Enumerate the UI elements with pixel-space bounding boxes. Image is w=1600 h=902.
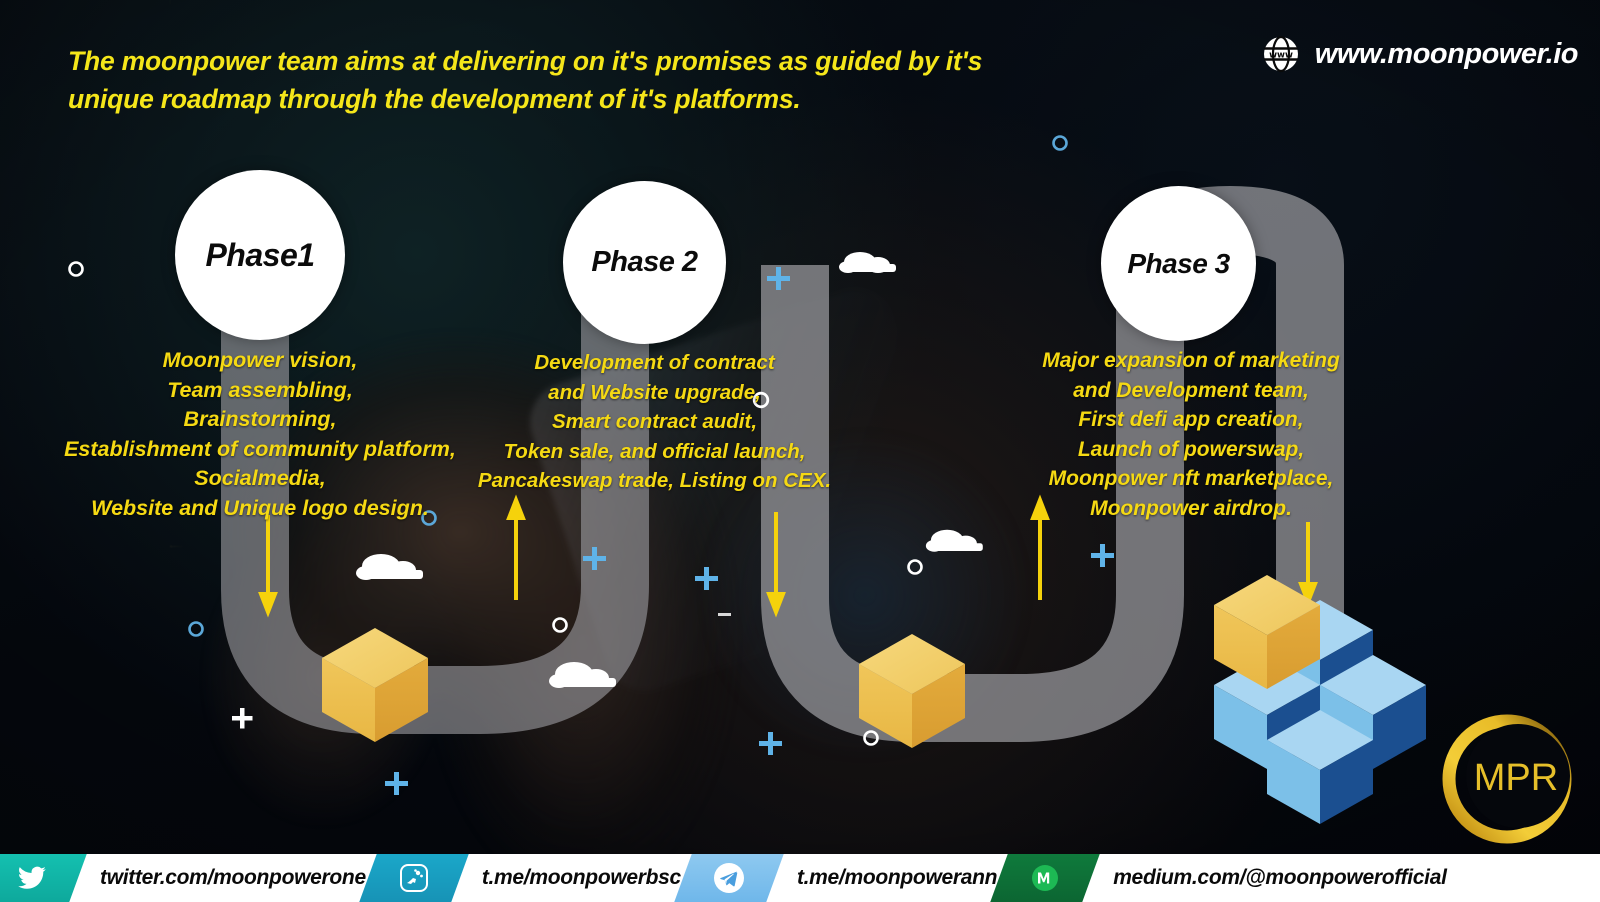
phase-1-title: Phase1 (205, 237, 314, 274)
medium-icon (1030, 863, 1060, 893)
social-item-telegram-bsc[interactable]: t.me/moonpowerbsc (382, 854, 697, 902)
phase-3-circle[interactable]: Phase 3 (1101, 186, 1256, 341)
mpr-logo: MPR (1432, 704, 1582, 854)
telegram-icon (712, 861, 746, 895)
mpr-logo-text: MPR (1474, 757, 1558, 799)
telegram-app-chip (359, 854, 468, 902)
twitter-chip (0, 854, 87, 902)
medium-chip (990, 854, 1099, 902)
twitter-icon (17, 863, 47, 893)
telegram-ann-label: t.me/moonpowerann (775, 866, 1013, 890)
telegram-bsc-label: t.me/moonpowerbsc (460, 866, 697, 890)
social-item-telegram-ann[interactable]: t.me/moonpowerann (697, 854, 1013, 902)
twitter-label: twitter.com/moonpowerone (78, 866, 382, 890)
phase-2-circle[interactable]: Phase 2 (563, 181, 726, 344)
phase-1-items: Moonpower vision, Team assembling, Brain… (40, 346, 480, 523)
social-item-twitter[interactable]: twitter.com/moonpowerone (0, 854, 382, 902)
phase-2-items: Development of contract and Website upgr… (462, 348, 847, 496)
phase-1-circle[interactable]: Phase1 (175, 170, 345, 340)
website-badge: www www.moonpower.io (1261, 34, 1578, 74)
social-item-medium[interactable]: medium.com/@moonpowerofficial (1013, 854, 1462, 902)
medium-label: medium.com/@moonpowerofficial (1091, 866, 1462, 890)
social-bar: twitter.com/moonpowerone t.me/moonpowerb… (0, 854, 1600, 902)
page-headline: The moonpower team aims at delivering on… (68, 42, 1018, 118)
phase-2-title: Phase 2 (591, 246, 697, 279)
globe-icon: www (1261, 34, 1301, 74)
telegram-app-icon (398, 862, 430, 894)
phase-3-items: Major expansion of marketing and Develop… (1026, 346, 1356, 523)
svg-text:www: www (1269, 50, 1293, 60)
website-url: www.moonpower.io (1315, 38, 1578, 71)
telegram-chip (674, 854, 783, 902)
phase-3-title: Phase 3 (1127, 248, 1229, 280)
roadmap-canvas: The moonpower team aims at delivering on… (0, 0, 1600, 902)
